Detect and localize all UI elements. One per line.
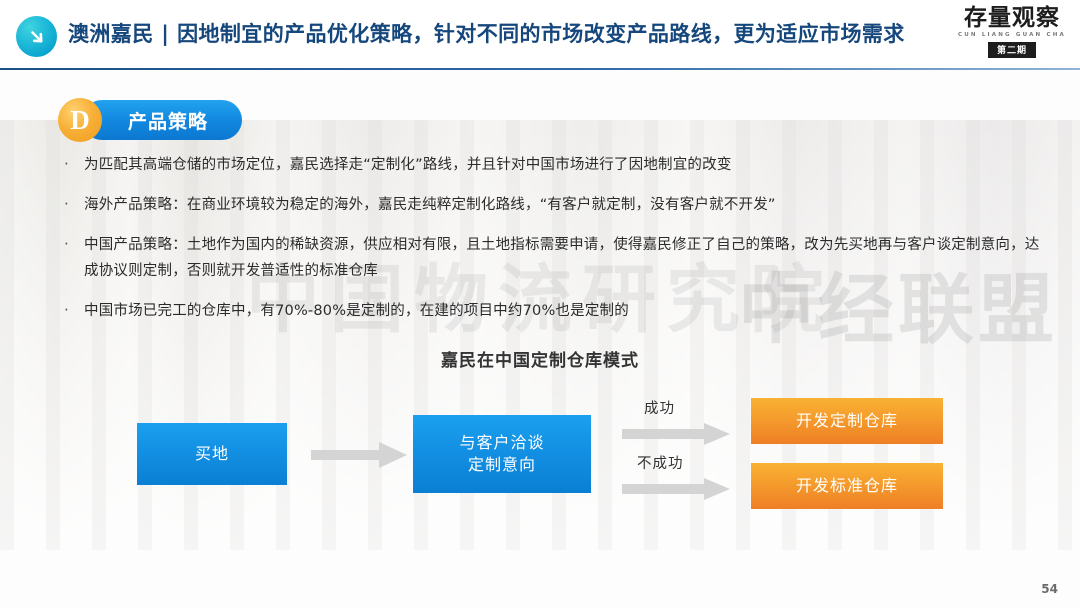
bullet-list: · 为匹配其高端仓储的市场定位，嘉民选择走“定制化”路线，并且针对中国市场进行了… (62, 152, 1042, 338)
section-badge: D 产品策略 (58, 98, 242, 142)
flow-node-custom-warehouse: 开发定制仓库 (751, 398, 943, 444)
flow-node-label-line1: 与客户洽谈 (459, 433, 544, 452)
flow-node-label: 开发标准仓库 (796, 475, 898, 497)
flow-diagram: 买地 与客户洽谈 定制意向 成功 不成功 开发定制仓库 (0, 385, 1080, 525)
page-title: 澳洲嘉民 | 因地制宜的产品优化策略，针对不同的市场改变产品路线，更为适应市场需… (68, 18, 905, 48)
flow-arrow-main (311, 442, 407, 468)
list-item: · 中国产品策略：土地作为国内的稀缺资源，供应相对有限，且土地指标需要申请，使得… (62, 232, 1042, 284)
list-item: · 海外产品策略：在商业环境较为稳定的海外，嘉民走纯粹定制化路线，“有客户就定制… (62, 192, 1042, 218)
bullet-marker: · (62, 152, 84, 178)
diagram-title: 嘉民在中国定制仓库模式 (0, 346, 1080, 371)
brand-issue-badge: 第二期 (988, 42, 1036, 58)
brand-name: 存量观察 (956, 6, 1068, 30)
bullet-marker: · (62, 232, 84, 284)
flow-node-label-line2: 定制意向 (468, 455, 536, 474)
section-label: 产品策略 (82, 100, 242, 140)
brand-logo: 存量观察 CUN LIANG GUAN CHA 第二期 (956, 6, 1068, 58)
flow-arrow-fail (622, 478, 730, 500)
flow-node-standard-warehouse: 开发标准仓库 (751, 463, 943, 509)
branch-label-success: 成功 (644, 397, 675, 418)
bullet-marker: · (62, 192, 84, 218)
flow-node-negotiate: 与客户洽谈 定制意向 (413, 415, 591, 493)
list-item: · 中国市场已完工的仓库中，有70%-80%是定制的，在建的项目中约70%也是定… (62, 298, 1042, 324)
flow-node-label: 开发定制仓库 (796, 410, 898, 432)
arrow-down-right-icon (16, 16, 57, 57)
bullet-text: 为匹配其高端仓储的市场定位，嘉民选择走“定制化”路线，并且针对中国市场进行了因地… (84, 152, 732, 178)
flow-arrow-success (622, 423, 730, 445)
bullet-text: 中国产品策略：土地作为国内的稀缺资源，供应相对有限，且土地指标需要申请，使得嘉民… (84, 232, 1042, 284)
list-item: · 为匹配其高端仓储的市场定位，嘉民选择走“定制化”路线，并且针对中国市场进行了… (62, 152, 1042, 178)
page-number: 54 (1041, 582, 1058, 596)
flow-node-label: 买地 (195, 443, 229, 465)
brand-pinyin: CUN LIANG GUAN CHA (956, 32, 1068, 38)
header-bar: 澳洲嘉民 | 因地制宜的产品优化策略，针对不同的市场改变产品路线，更为适应市场需… (0, 0, 1080, 70)
bullet-marker: · (62, 298, 84, 324)
slide: 中国物流研究院 中经联盟 澳洲嘉民 | 因地制宜的产品优化策略，针对不同的市场改… (0, 0, 1080, 608)
bullet-text: 海外产品策略：在商业环境较为稳定的海外，嘉民走纯粹定制化路线，“有客户就定制，没… (84, 192, 776, 218)
flow-node-label: 与客户洽谈 定制意向 (459, 432, 544, 475)
branch-label-fail: 不成功 (637, 452, 684, 473)
header-divider (0, 68, 1080, 70)
bullet-text: 中国市场已完工的仓库中，有70%-80%是定制的，在建的项目中约70%也是定制的 (84, 298, 629, 324)
flow-node-buy-land: 买地 (137, 423, 287, 485)
section-letter: D (58, 98, 102, 142)
